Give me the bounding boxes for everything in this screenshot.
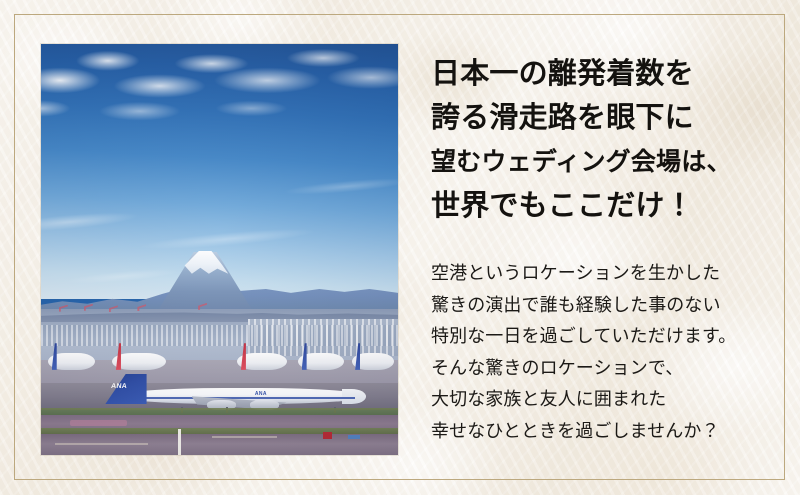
ana-airliner: ANA ANA <box>102 374 366 413</box>
parked-aircraft-row <box>41 343 398 370</box>
aircraft-body-livery-text: ANA <box>255 391 267 397</box>
headline-line: 世界でもここだけ！ <box>431 184 771 228</box>
body-copy-line: 大切な家族と友人に囲まれた <box>431 384 771 416</box>
tarmac-marking <box>212 436 276 438</box>
body-copy: 空港というロケーションを生かした 驚きの演出で誰も経験した事のない 特別な一日を… <box>431 228 771 447</box>
runway-marker-pole <box>178 429 181 455</box>
airport-photo: ANA ANA <box>41 44 398 455</box>
body-copy-line: そんな驚きのロケーションで、 <box>431 353 771 385</box>
body-copy-line: 空港というロケーションを生かした <box>431 258 771 290</box>
aircraft-tail-livery-text: ANA <box>111 383 128 390</box>
aircraft-cheatline <box>123 397 355 399</box>
grass-strip <box>41 428 398 434</box>
ground-equipment <box>348 435 360 439</box>
ground-equipment <box>323 432 332 439</box>
promo-banner: ANA ANA 日本一の離発着数を 誇る滑走路を眼下に 望むウェディング会場は、… <box>0 0 800 495</box>
text-column: 日本一の離発着数を 誇る滑走路を眼下に 望むウェディング会場は、 世界でもここだ… <box>431 52 771 447</box>
tarmac-marking <box>55 443 148 445</box>
headline: 日本一の離発着数を 誇る滑走路を眼下に 望むウェディング会場は、 世界でもここだ… <box>431 52 771 228</box>
body-copy-line: 驚きの演出で誰も経験した事のない <box>431 290 771 322</box>
body-copy-line: 幸せなひとときを過ごしませんか？ <box>431 416 771 448</box>
headline-line: 日本一の離発着数を <box>431 52 771 96</box>
body-copy-line: 特別な一日を過ごしていただけます。 <box>431 321 771 353</box>
tarmac-marking <box>70 420 127 427</box>
headline-line: 誇る滑走路を眼下に <box>431 96 771 140</box>
photo-canvas: ANA ANA <box>41 44 398 455</box>
headline-line: 望むウェディング会場は、 <box>431 140 771 184</box>
